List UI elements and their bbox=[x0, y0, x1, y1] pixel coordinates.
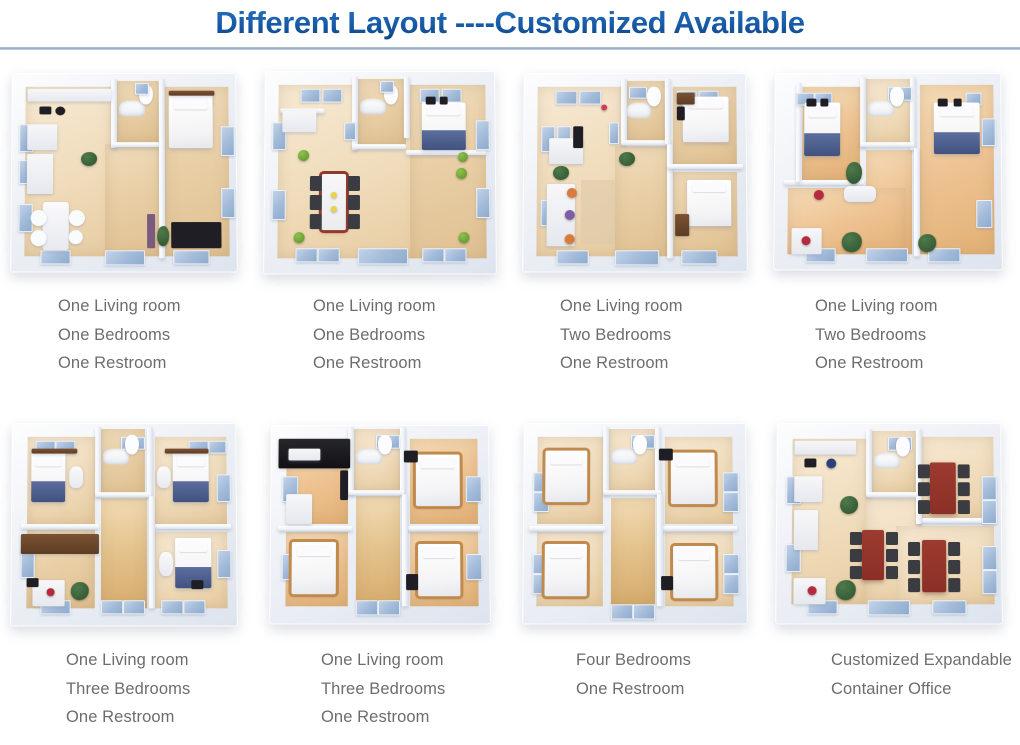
layout-gallery-grid: One Living room One Bedrooms One Restroo… bbox=[0, 56, 1020, 745]
caption-line: One Restroom bbox=[576, 675, 765, 704]
layout-caption-2: One Living room One Bedrooms One Restroo… bbox=[255, 292, 510, 378]
caption-line: One Living room bbox=[58, 292, 255, 321]
layout-card-8[interactable]: Customized Expandable Container Office bbox=[765, 408, 1020, 745]
caption-line: One Living room bbox=[313, 292, 510, 321]
page-title: Different Layout ----Customized Availabl… bbox=[215, 5, 804, 41]
page-header: Different Layout ----Customized Availabl… bbox=[0, 0, 1020, 46]
caption-line: One Living room bbox=[815, 292, 1020, 321]
layout-caption-7: Four Bedrooms One Restroom bbox=[510, 646, 765, 703]
floorplan-image-5 bbox=[5, 414, 250, 636]
caption-line: One Restroom bbox=[66, 703, 255, 732]
caption-line: One Restroom bbox=[560, 349, 765, 378]
floorplan-image-8 bbox=[770, 414, 1015, 636]
caption-line: One Living room bbox=[66, 646, 255, 675]
caption-line: Two Bedrooms bbox=[560, 321, 765, 350]
caption-line: One Restroom bbox=[313, 349, 510, 378]
floorplan-image-7 bbox=[515, 414, 760, 636]
layout-caption-3: One Living room Two Bedrooms One Restroo… bbox=[510, 292, 765, 378]
layout-card-4[interactable]: One Living room Two Bedrooms One Restroo… bbox=[765, 56, 1020, 408]
layout-card-7[interactable]: Four Bedrooms One Restroom bbox=[510, 408, 765, 745]
caption-line: Two Bedrooms bbox=[815, 321, 1020, 350]
caption-line: One Bedrooms bbox=[313, 321, 510, 350]
floorplan-image-2 bbox=[260, 64, 505, 282]
caption-line: Three Bedrooms bbox=[321, 675, 510, 704]
layout-card-5[interactable]: One Living room Three Bedrooms One Restr… bbox=[0, 408, 255, 745]
caption-line: One Living room bbox=[560, 292, 765, 321]
layout-card-2[interactable]: One Living room One Bedrooms One Restroo… bbox=[255, 56, 510, 408]
layout-caption-1: One Living room One Bedrooms One Restroo… bbox=[0, 292, 255, 378]
layout-caption-6: One Living room Three Bedrooms One Restr… bbox=[255, 646, 510, 732]
caption-line: One Restroom bbox=[58, 349, 255, 378]
floorplan-image-4 bbox=[770, 64, 1015, 282]
caption-line: Customized Expandable bbox=[831, 646, 1020, 675]
caption-line: Three Bedrooms bbox=[66, 675, 255, 704]
layout-card-3[interactable]: One Living room Two Bedrooms One Restroo… bbox=[510, 56, 765, 408]
caption-line: One Bedrooms bbox=[58, 321, 255, 350]
caption-line: One Living room bbox=[321, 646, 510, 675]
layout-card-1[interactable]: One Living room One Bedrooms One Restroo… bbox=[0, 56, 255, 408]
floorplan-image-1 bbox=[5, 64, 250, 282]
floorplan-image-6 bbox=[260, 414, 505, 636]
caption-line: Four Bedrooms bbox=[576, 646, 765, 675]
layout-card-6[interactable]: One Living room Three Bedrooms One Restr… bbox=[255, 408, 510, 745]
caption-line: Container Office bbox=[831, 675, 1020, 704]
layout-caption-4: One Living room Two Bedrooms One Restroo… bbox=[765, 292, 1020, 378]
layout-caption-5: One Living room Three Bedrooms One Restr… bbox=[0, 646, 255, 732]
caption-line: One Restroom bbox=[815, 349, 1020, 378]
header-divider bbox=[0, 47, 1020, 50]
caption-line: One Restroom bbox=[321, 703, 510, 732]
layout-caption-8: Customized Expandable Container Office bbox=[765, 646, 1020, 703]
floorplan-image-3 bbox=[515, 64, 760, 282]
